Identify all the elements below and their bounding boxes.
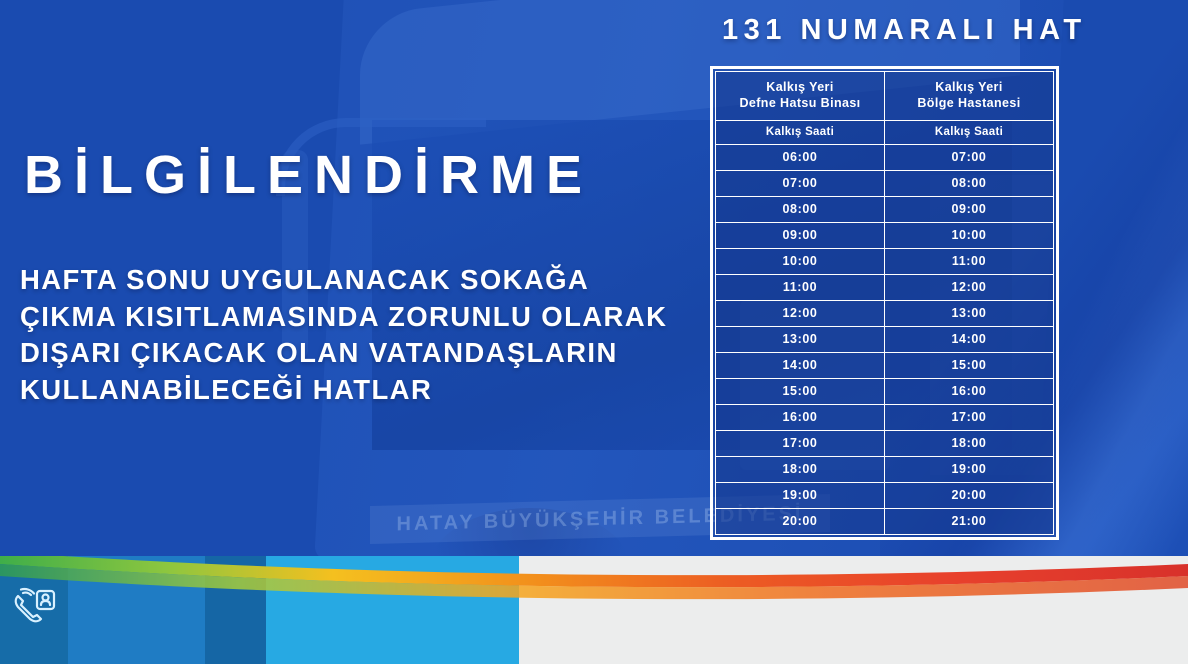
departure-time-cell: 12:00 (716, 300, 885, 326)
table-row: 08:0009:00 (716, 196, 1054, 222)
departure-time-cell: 17:00 (716, 430, 885, 456)
departure-time-cell: 19:00 (885, 456, 1054, 482)
departure-time-cell: 14:00 (885, 326, 1054, 352)
table-row: 06:0007:00 (716, 144, 1054, 170)
departure-time-cell: 07:00 (885, 144, 1054, 170)
table-row: 11:0012:00 (716, 274, 1054, 300)
departure-time-cell: 18:00 (716, 456, 885, 482)
departure-time-cell: 16:00 (885, 378, 1054, 404)
departure-time-cell: 06:00 (716, 144, 885, 170)
departure-time-cell: 17:00 (885, 404, 1054, 430)
departure-time-cell: 21:00 (885, 508, 1054, 534)
table-row: 12:0013:00 (716, 300, 1054, 326)
announcement-line-2: ÇIKMA KISITLAMASINDA ZORUNLU OLARAK (20, 299, 700, 336)
departure-time-cell: 16:00 (716, 404, 885, 430)
departure-time-cell: 10:00 (716, 248, 885, 274)
table-row: 13:0014:00 (716, 326, 1054, 352)
departure-time-cell: 07:00 (716, 170, 885, 196)
schedule-table-body: 06:0007:0007:0008:0008:0009:0009:0010:00… (716, 144, 1054, 534)
departure-time-cell: 08:00 (716, 196, 885, 222)
page-title: BİLGİLENDİRME (24, 148, 593, 202)
departure-time-cell: 20:00 (716, 508, 885, 534)
departure-time-cell: 11:00 (885, 248, 1054, 274)
departure-time-cell: 15:00 (885, 352, 1054, 378)
footer-block-social (519, 556, 1188, 664)
departure-time-cell: 09:00 (716, 222, 885, 248)
departure-time-cell: 18:00 (885, 430, 1054, 456)
departure-time-cell: 10:00 (885, 222, 1054, 248)
departure-time-cell: 11:00 (716, 274, 885, 300)
table-row: 14:0015:00 (716, 352, 1054, 378)
table-row: 10:0011:00 (716, 248, 1054, 274)
announcement-line-3: DIŞARI ÇIKACAK OLAN VATANDAŞLARIN (20, 335, 700, 372)
departure-time-cell: 08:00 (885, 170, 1054, 196)
announcement-line-4: KULLANABİLECEĞİ HATLAR (20, 372, 700, 409)
col1-line1: Kalkış Yeri (766, 80, 833, 94)
departure-time-cell: 13:00 (885, 300, 1054, 326)
table-row: 15:0016:00 (716, 378, 1054, 404)
col1-line2: Defne Hatsu Binası (739, 96, 860, 110)
table-row: 19:0020:00 (716, 482, 1054, 508)
footer-bar: 444 12 06 www.hatay.bel.tr (0, 556, 1188, 664)
subheader-departure-time-1: Kalkış Saati (716, 120, 885, 144)
column-header-departure-place-1: Kalkış Yeri Defne Hatsu Binası (716, 72, 885, 121)
departure-time-cell: 15:00 (716, 378, 885, 404)
schedule-table-container: Kalkış Yeri Defne Hatsu Binası Kalkış Ye… (710, 66, 1059, 540)
schedule-table: Kalkış Yeri Defne Hatsu Binası Kalkış Ye… (715, 71, 1054, 535)
departure-time-cell: 20:00 (885, 482, 1054, 508)
table-header-row: Kalkış Yeri Defne Hatsu Binası Kalkış Ye… (716, 72, 1054, 121)
table-row: 18:0019:00 (716, 456, 1054, 482)
footer-block-website (266, 556, 519, 664)
departure-time-cell: 12:00 (885, 274, 1054, 300)
footer-block-click-icon (205, 556, 266, 664)
call-center-icon (10, 586, 60, 634)
departure-time-cell: 13:00 (716, 326, 885, 352)
table-row: 16:0017:00 (716, 404, 1054, 430)
departure-time-cell: 19:00 (716, 482, 885, 508)
footer-block-phone (68, 556, 205, 664)
table-row: 17:0018:00 (716, 430, 1054, 456)
table-row: 07:0008:00 (716, 170, 1054, 196)
announcement-line-1: HAFTA SONU UYGULANACAK SOKAĞA (20, 262, 700, 299)
subheader-departure-time-2: Kalkış Saati (885, 120, 1054, 144)
departure-time-cell: 09:00 (885, 196, 1054, 222)
departure-time-cell: 14:00 (716, 352, 885, 378)
announcement-text: HAFTA SONU UYGULANACAK SOKAĞA ÇIKMA KISI… (20, 262, 700, 408)
table-row: 09:0010:00 (716, 222, 1054, 248)
route-number-title: 131 NUMARALI HAT (722, 14, 1087, 47)
poster-canvas: HATAY BÜYÜKŞEHİR BELEDİYESİ BİLGİLENDİRM… (0, 0, 1188, 664)
col2-line1: Kalkış Yeri (935, 80, 1002, 94)
table-subheader-row: Kalkış Saati Kalkış Saati (716, 120, 1054, 144)
table-row: 20:0021:00 (716, 508, 1054, 534)
column-header-departure-place-2: Kalkış Yeri Bölge Hastanesi (885, 72, 1054, 121)
col2-line2: Bölge Hastanesi (917, 96, 1020, 110)
